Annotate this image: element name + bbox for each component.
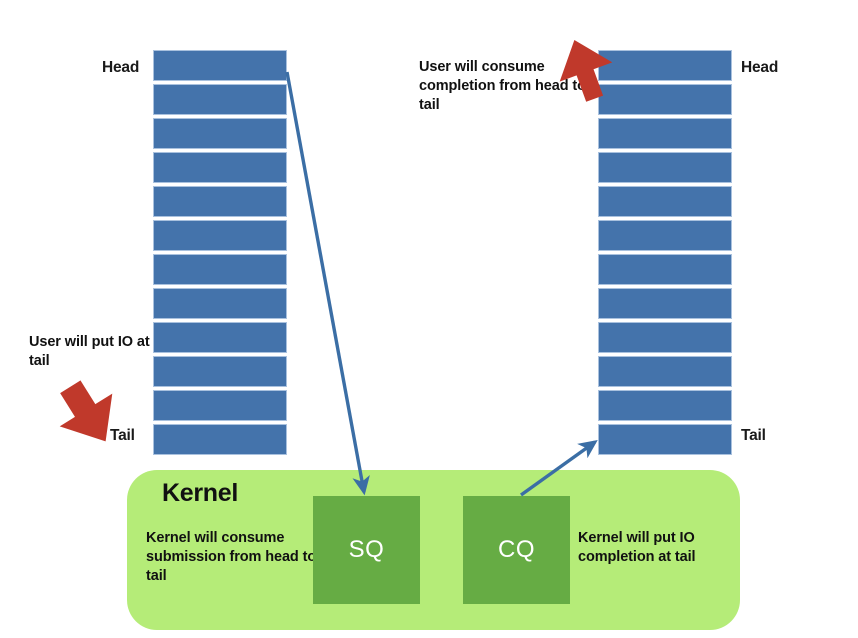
cq-head-label: Head bbox=[741, 59, 778, 77]
diagram-canvas: Head Tail Head Tail User will put IO at … bbox=[0, 0, 858, 638]
sq-slot bbox=[153, 152, 287, 183]
note-kernel-put-completion: Kernel will put IO completion at tail bbox=[578, 529, 743, 567]
cq-slot bbox=[598, 254, 732, 285]
cq-slot bbox=[598, 424, 732, 455]
sq-slot bbox=[153, 50, 287, 81]
sq-slot bbox=[153, 390, 287, 421]
cq-slot bbox=[598, 50, 732, 81]
sq-slot bbox=[153, 254, 287, 285]
submission-queue-ring bbox=[153, 50, 287, 455]
kernel-title: Kernel bbox=[162, 479, 238, 508]
cq-slot bbox=[598, 118, 732, 149]
sq-slot bbox=[153, 288, 287, 319]
note-user-put-io: User will put IO at tail bbox=[29, 333, 159, 371]
sq-slot bbox=[153, 118, 287, 149]
sq-slot bbox=[153, 84, 287, 115]
sq-slot bbox=[153, 186, 287, 217]
completion-queue-ring bbox=[598, 50, 732, 455]
cq-slot bbox=[598, 186, 732, 217]
cq-slot bbox=[598, 220, 732, 251]
sq-head-label: Head bbox=[102, 59, 139, 77]
cq-box-label: CQ bbox=[498, 536, 535, 564]
sq-box: SQ bbox=[313, 496, 420, 604]
sq-to-kernel-arrow-icon bbox=[287, 72, 364, 492]
cq-slot bbox=[598, 356, 732, 387]
sq-box-label: SQ bbox=[349, 536, 385, 564]
cq-slot bbox=[598, 288, 732, 319]
sq-slot bbox=[153, 356, 287, 387]
cq-slot bbox=[598, 84, 732, 115]
sq-tail-label: Tail bbox=[110, 427, 135, 445]
sq-slot bbox=[153, 322, 287, 353]
cq-slot bbox=[598, 390, 732, 421]
note-user-consume-completion: User will consume completion from head t… bbox=[419, 58, 594, 115]
cq-box: CQ bbox=[463, 496, 570, 604]
cq-tail-label: Tail bbox=[741, 427, 766, 445]
cq-slot bbox=[598, 152, 732, 183]
note-kernel-consume-submission: Kernel will consume submission from head… bbox=[146, 529, 321, 586]
sq-slot bbox=[153, 220, 287, 251]
sq-slot bbox=[153, 424, 287, 455]
cq-slot bbox=[598, 322, 732, 353]
